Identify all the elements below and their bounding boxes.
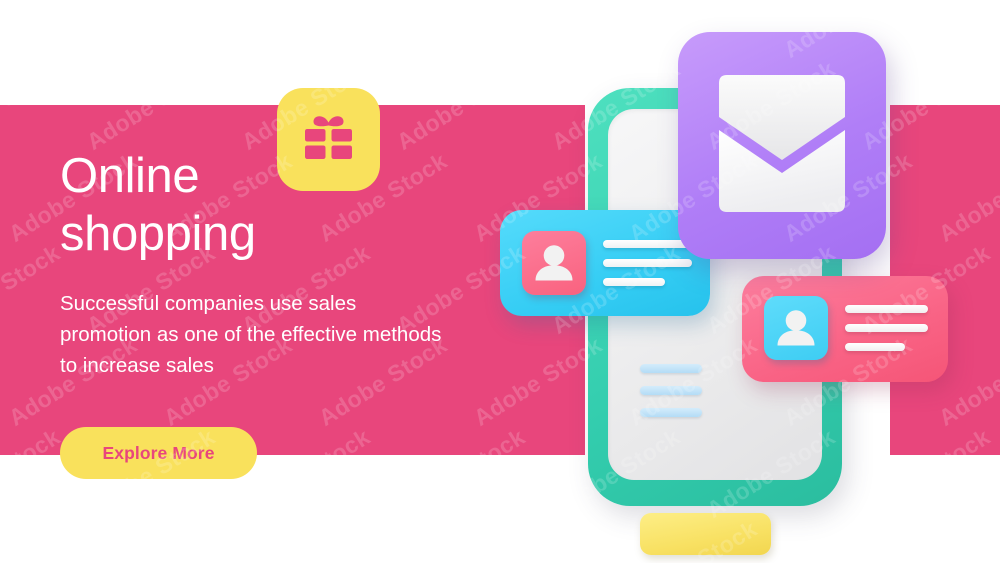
card-text-line [603,278,665,286]
phone-screen-button[interactable] [640,513,771,555]
phone-screen-line [640,408,702,417]
card-text-line [845,343,905,351]
person-icon [764,296,828,360]
phone-screen-line [640,364,702,373]
phone-screen-text-lines [640,364,702,430]
avatar-tile-coral [522,231,586,295]
avatar-tile-cyan [764,296,828,360]
card-text-line [603,259,692,267]
gift-icon [298,108,359,169]
contact-card-pink[interactable] [742,276,948,382]
gift-badge[interactable] [277,88,380,191]
card-text-line [845,305,928,313]
envelope-icon [678,32,886,259]
person-icon [522,231,586,295]
card-text-line [845,324,928,332]
explore-more-button[interactable]: Explore More [60,427,257,479]
subheadline-text: Successful companies use sales promotion… [60,288,445,381]
mail-tile[interactable] [678,32,886,259]
banner-canvas: Online shopping Successful companies use… [0,0,1000,563]
phone-screen-line [640,386,702,395]
